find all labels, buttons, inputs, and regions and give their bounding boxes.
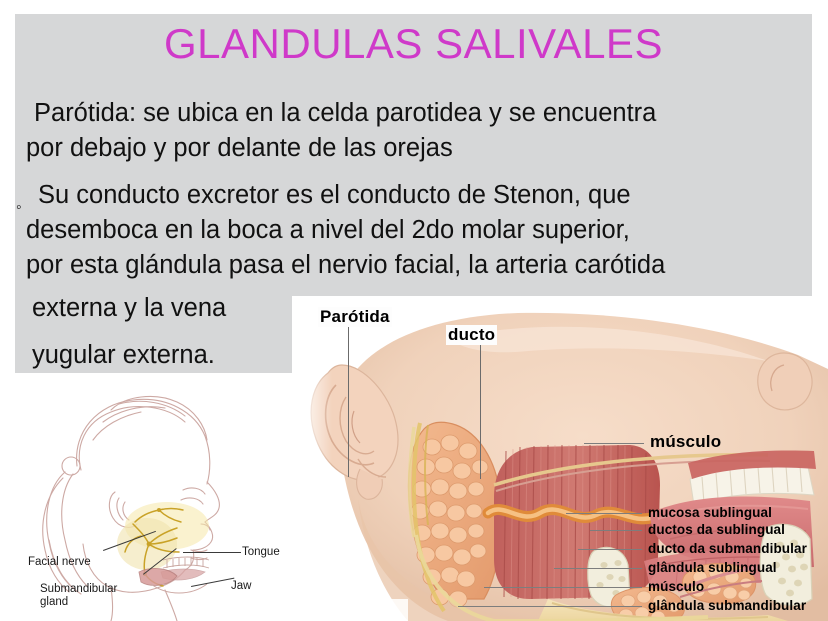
- label-submandibular-gland-line2: gland: [40, 596, 68, 609]
- leader-line-musculo-2: [484, 587, 642, 588]
- leader-line-ducto-da-submandibular: [578, 549, 642, 550]
- body-line: Su conducto excretor es el conducto de S…: [16, 178, 816, 213]
- label-ductos-da-sublingual: ductos da sublingual: [648, 521, 785, 540]
- leader-line-glandula-sublingual: [554, 568, 642, 569]
- label-parotida: Parótida: [318, 307, 392, 327]
- label-facial-nerve: Facial nerve: [28, 556, 91, 569]
- body-line: Parótida: se ubica en la celda parotidea…: [16, 96, 816, 131]
- figure-salivary-glands-anatomy: Parótida ducto músculo mucosa sublingual…: [298, 299, 828, 621]
- leader-line-ducto: [480, 343, 481, 479]
- leader-line-parotida: [348, 327, 349, 477]
- label-ducto: ducto: [446, 325, 497, 345]
- leader-line-glandula-submandibular: [458, 606, 642, 607]
- label-ducto-da-submandibular: ducto da submandibular: [648, 540, 807, 559]
- leader-line-ductos-da-sublingual: [590, 530, 642, 531]
- body-line: desemboca en la boca a nivel del 2do mol…: [16, 213, 816, 248]
- leader-line-mucosa-sublingual: [566, 513, 642, 514]
- slide-canvas: GLANDULAS SALIVALES ◦ Parótida: se ubica…: [0, 0, 828, 621]
- paragraph-1: ◦ Parótida: se ubica en la celda parotid…: [16, 96, 816, 166]
- label-tongue: Tongue: [242, 546, 280, 559]
- label-musculo: músculo: [650, 432, 721, 452]
- page-title: GLANDULAS SALIVALES: [15, 20, 812, 68]
- label-glandula-sublingual: glândula sublingual: [648, 559, 777, 578]
- body-line: por debajo y por delante de las orejas: [16, 131, 816, 166]
- label-glandula-submandibular: glândula submandibular: [648, 597, 806, 616]
- leader-line-tongue: [183, 552, 241, 553]
- label-mucosa-sublingual: mucosa sublingual: [648, 504, 772, 523]
- label-jaw: Jaw: [231, 580, 251, 593]
- label-musculo-2: músculo: [648, 578, 704, 597]
- label-submandibular-gland: Submandibular: [40, 583, 117, 596]
- body-line: por esta glándula pasa el nervio facial,…: [16, 248, 816, 283]
- figure-facial-nerve-sketch: Tongue Jaw Facial nerve Submandibular gl…: [15, 374, 300, 621]
- leader-line-musculo: [584, 443, 644, 444]
